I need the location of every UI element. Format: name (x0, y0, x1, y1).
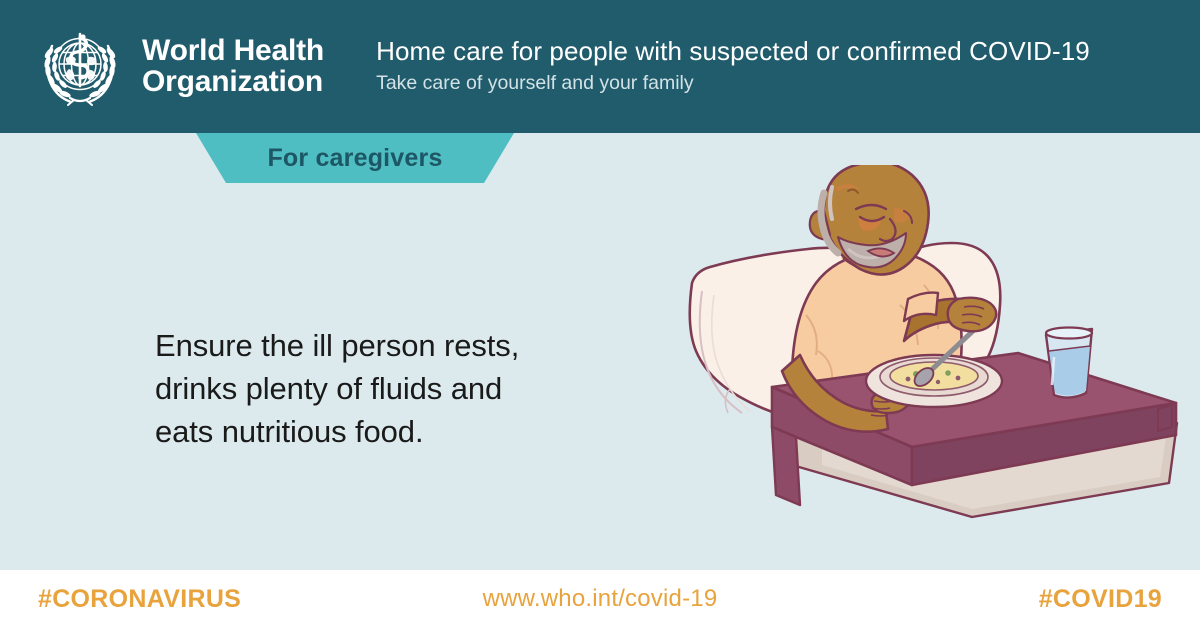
footer-bar: #CORONAVIRUS www.who.int/covid-19 #COVID… (0, 570, 1200, 628)
audience-tab: For caregivers (196, 133, 514, 183)
water-glass (1046, 328, 1092, 398)
page-title: Home care for people with suspected or c… (376, 36, 1090, 68)
main-message-line-1: Ensure the ill person rests, (155, 325, 625, 368)
illustration-man-eating-in-bed (672, 165, 1200, 570)
who-logo: World Health Organization (32, 24, 324, 110)
who-covid-url[interactable]: www.who.int/covid-19 (0, 585, 1200, 613)
who-covid-infographic: World Health Organization Home care for … (0, 0, 1200, 628)
who-wordmark: World Health Organization (142, 36, 324, 97)
main-message-line-2: drinks plenty of fluids and (155, 368, 625, 411)
header-text-block: Home care for people with suspected or c… (376, 36, 1090, 96)
header-bar: World Health Organization Home care for … (0, 0, 1200, 133)
hashtag-covid19: #COVID19 (1039, 585, 1162, 614)
main-message-line-3: eats nutritious food. (155, 411, 625, 454)
audience-tab-label: For caregivers (196, 133, 514, 183)
soup-bowl (866, 355, 1002, 407)
main-message: Ensure the ill person rests, drinks plen… (155, 325, 625, 453)
who-wordmark-line2: Organization (142, 67, 324, 98)
who-emblem-icon (32, 24, 128, 110)
page-subtitle: Take care of yourself and your family (376, 71, 1090, 96)
who-wordmark-line1: World Health (142, 36, 324, 67)
